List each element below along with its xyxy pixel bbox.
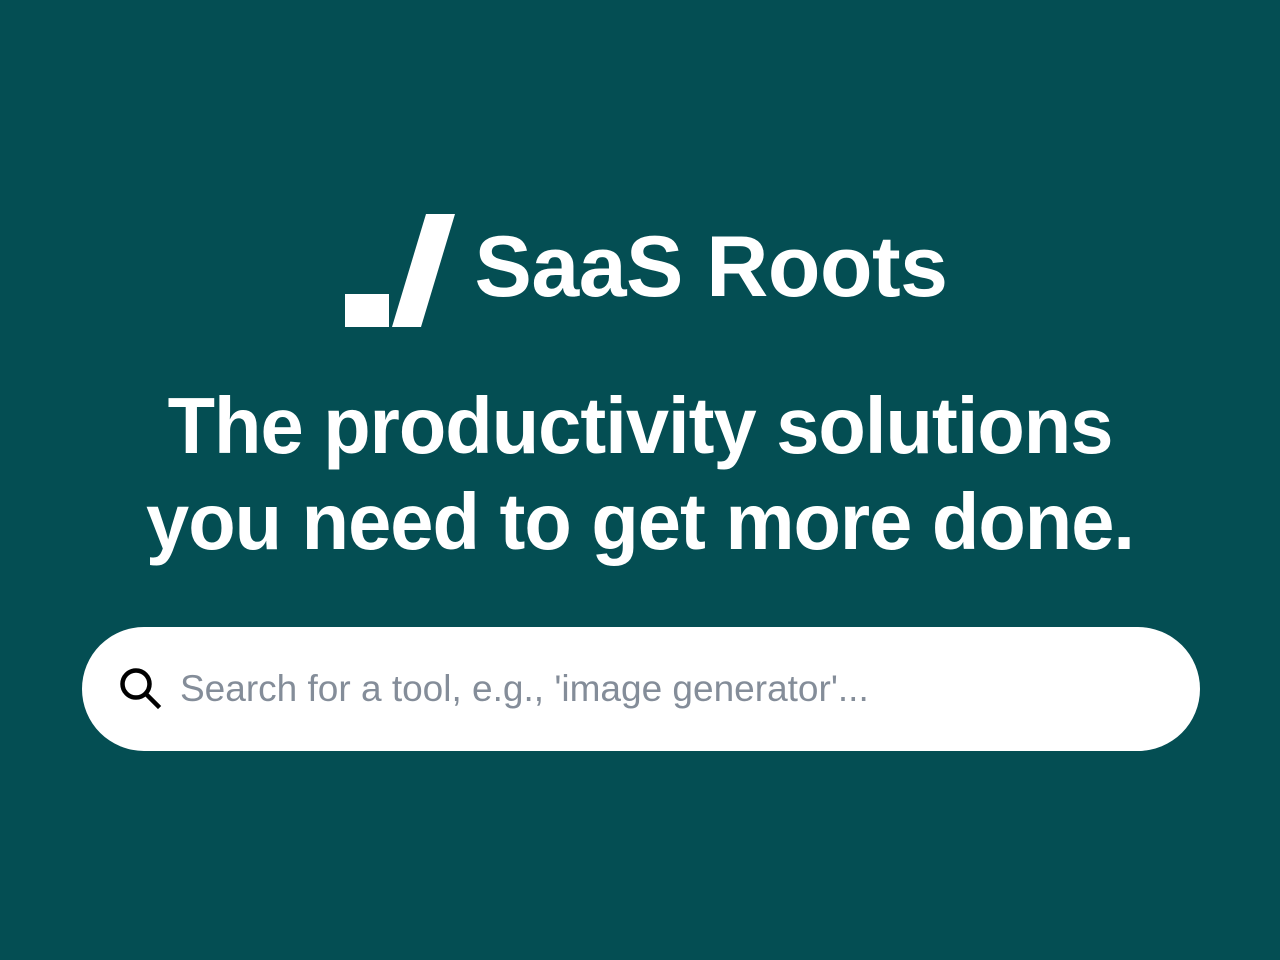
dot-slash-logo-icon bbox=[333, 205, 455, 329]
brand-name: SaaS Roots bbox=[475, 224, 948, 310]
headline-line-2: you need to get more done. bbox=[19, 474, 1261, 570]
headline-line-1: The productivity solutions bbox=[19, 378, 1261, 474]
search-icon bbox=[114, 663, 166, 715]
search-input[interactable] bbox=[180, 659, 1166, 719]
search-bar[interactable] bbox=[82, 627, 1200, 751]
landing-page: SaaS Roots The productivity solutions yo… bbox=[0, 0, 1280, 960]
page-title: The productivity solutions you need to g… bbox=[19, 378, 1261, 570]
brand-header: SaaS Roots bbox=[0, 205, 1280, 329]
